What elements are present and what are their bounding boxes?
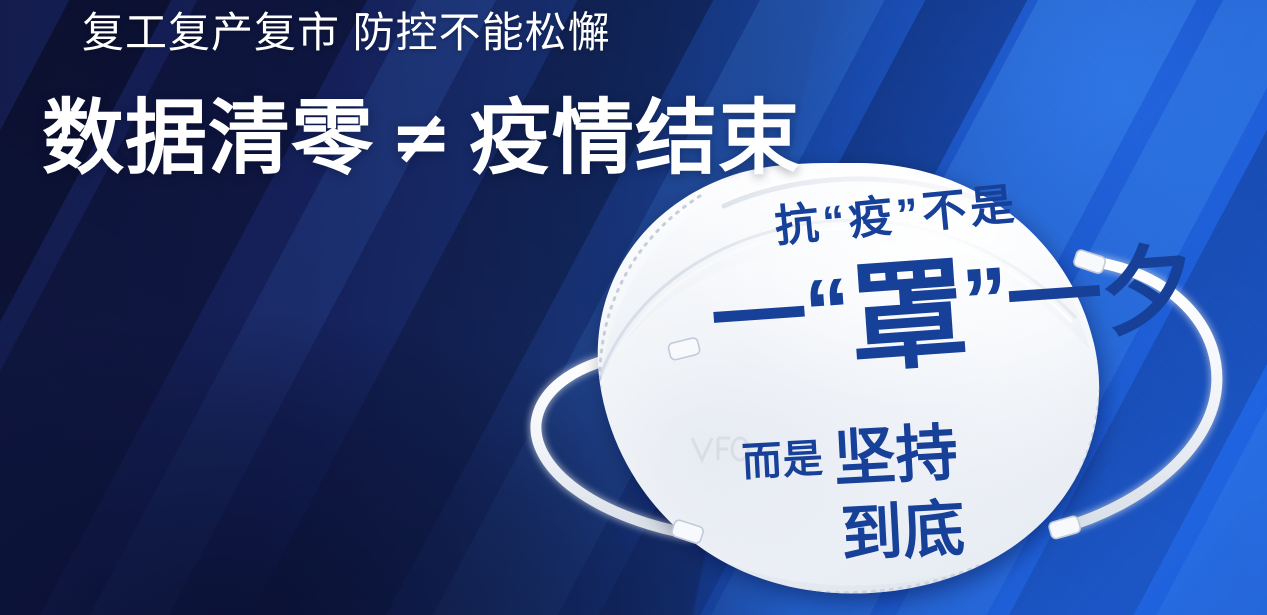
- mask-copy-line-3: 而是坚持: [740, 423, 959, 496]
- poster-canvas: 复工复产复市 防控不能松懈 数据清零≠疫情结束 抗“疫”不是 一“罩”一夕 而是…: [0, 0, 1267, 615]
- mask-copy-quote-close: ”: [959, 249, 1010, 354]
- mask-copy-line3-strong: 坚持: [822, 419, 959, 495]
- mask-copy-keyword: 罩: [845, 248, 968, 388]
- mask-copy-line-4: 到底: [839, 499, 966, 567]
- mask-copy-quote-open: “: [801, 260, 852, 365]
- mask-copy-line3-lead: 而是: [741, 437, 825, 485]
- mask-copy-suffix: 一夕: [1003, 235, 1198, 355]
- mask-copy-prefix: 一: [708, 263, 809, 376]
